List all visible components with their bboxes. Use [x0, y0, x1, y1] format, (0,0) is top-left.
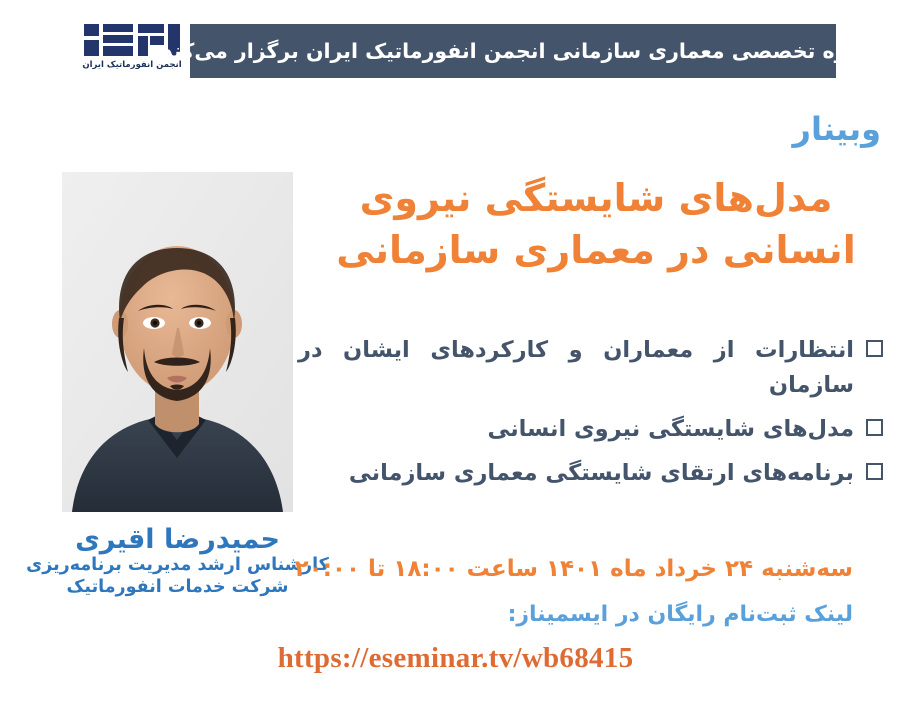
speaker-organization: شرکت خدمات انفورماتیک — [20, 577, 335, 599]
speaker-info: حمیدرضا اقیری کارشناس ارشد مدیریت برنامه… — [20, 524, 335, 599]
hollow-square-icon — [866, 463, 883, 480]
poster-header: انجمن انفورماتیک ایران گروه تخصصی معماری… — [0, 0, 911, 96]
list-item: برنامه‌های ارتقای شایستگی معماری سازمانی — [298, 456, 883, 491]
list-item: مدل‌های شایستگی نیروی انسانی — [298, 412, 883, 447]
speaker-photo — [62, 172, 293, 512]
topics-list: انتظارات از معماران و کارکردهای ایشان در… — [298, 333, 883, 500]
hollow-square-icon — [866, 419, 883, 436]
announcement-banner-text: گروه تخصصی معماری سازمانی انجمن انفورمات… — [154, 40, 872, 63]
announcement-banner: گروه تخصصی معماری سازمانی انجمن انفورمات… — [190, 24, 836, 78]
list-item-label: انتظارات از معماران و کارکردهای ایشان در… — [298, 333, 854, 403]
speaker-role: کارشناس ارشد مدیریت برنامه‌ریزی — [20, 555, 335, 577]
event-type-kicker: وبینار — [793, 112, 881, 147]
list-item: انتظارات از معماران و کارکردهای ایشان در… — [298, 333, 883, 403]
registration-label: لینک ثبت‌نام رایگان در ایسمیناز: — [508, 602, 853, 628]
speaker-name: حمیدرضا اقیری — [20, 524, 335, 555]
hollow-square-icon — [866, 340, 883, 357]
list-item-label: مدل‌های شایستگی نیروی انسانی — [298, 412, 854, 447]
list-item-label: برنامه‌های ارتقای شایستگی معماری سازمانی — [298, 456, 854, 491]
event-datetime: سه‌شنبه ۲۴ خرداد ماه ۱۴۰۱ ساعت ۱۸:۰۰ تا … — [295, 556, 853, 584]
webinar-title: مدل‌های شایستگی نیروی انسانی در معماری س… — [311, 172, 881, 277]
registration-url-link[interactable]: https://eseminar.tv/wb68415 — [0, 642, 911, 675]
